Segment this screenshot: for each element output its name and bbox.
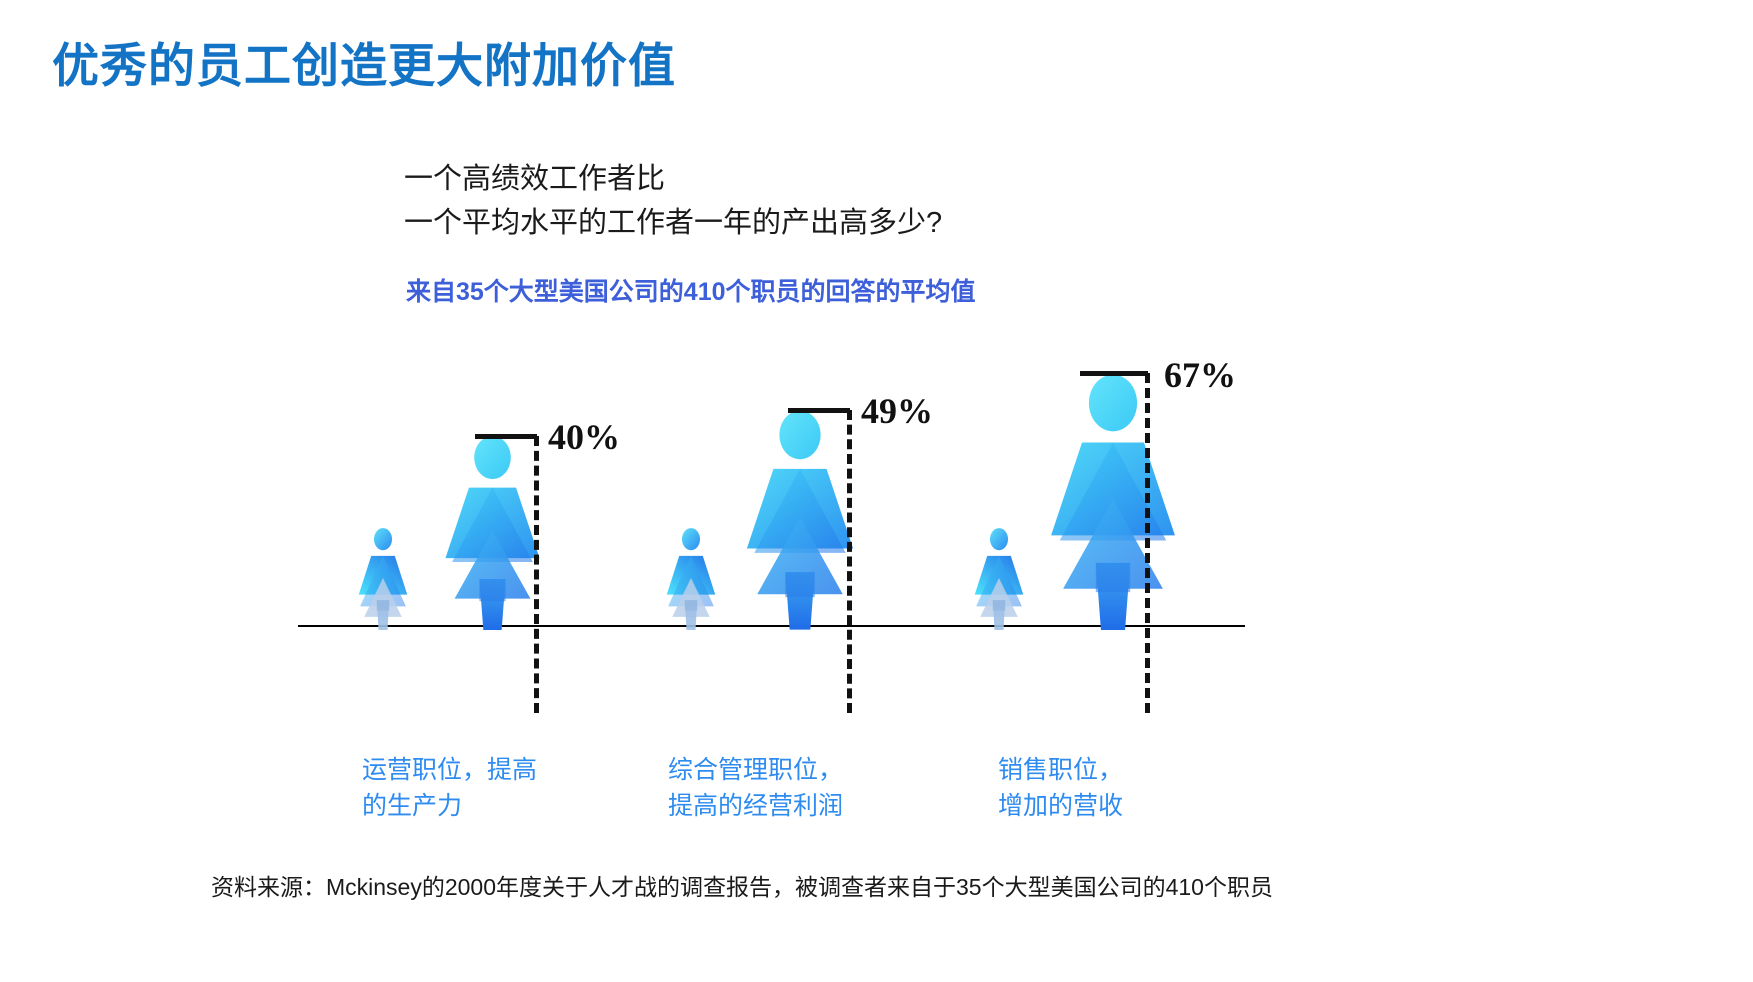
question-line-1: 一个高绩效工作者比	[404, 158, 942, 202]
bracket-dashed-line	[1145, 373, 1150, 713]
figure-average-worker	[663, 526, 719, 630]
bracket-top-line	[475, 434, 537, 439]
question-line-2: 一个平均水平的工作者一年的产出高多少?	[404, 202, 942, 246]
category-label-line-2: 的生产力	[362, 788, 537, 824]
figure-average-worker	[355, 526, 411, 630]
slide-root: 优秀的员工创造更大附加价值 一个高绩效工作者比 一个平均水平的工作者一年的产出高…	[0, 0, 1753, 982]
bracket-dashed-line	[534, 436, 539, 713]
category-label-line-1: 综合管理职位，	[668, 752, 843, 788]
bracket-top-line	[1080, 371, 1148, 376]
category-label-line-2: 提高的经营利润	[668, 788, 843, 824]
category-label-line-1: 运营职位，提高	[362, 752, 537, 788]
category-label-sales: 销售职位， 增加的营收	[998, 752, 1123, 825]
question-block: 一个高绩效工作者比 一个平均水平的工作者一年的产出高多少?	[404, 158, 942, 245]
value-label-sales: 67%	[1164, 354, 1236, 396]
figure-high-performer	[1044, 372, 1182, 630]
bracket-dashed-line	[847, 410, 852, 713]
category-label-line-1: 销售职位，	[998, 752, 1123, 788]
chart-group-general-management: 49%	[608, 300, 928, 740]
page-title: 优秀的员工创造更大附加价值	[52, 38, 676, 94]
chart-group-sales: 67%	[916, 300, 1256, 740]
category-label-line-2: 增加的营收	[998, 788, 1123, 824]
figure-high-performer	[741, 408, 859, 630]
category-label-general-management: 综合管理职位， 提高的经营利润	[668, 752, 843, 825]
bracket-top-line	[788, 408, 850, 413]
category-label-operations: 运营职位，提高 的生产力	[362, 752, 537, 825]
pictogram-chart: 40%	[0, 300, 1753, 740]
figure-high-performer	[440, 434, 545, 630]
figure-average-worker	[971, 526, 1027, 630]
chart-group-operations: 40%	[300, 300, 620, 740]
source-note: 资料来源：Mckinsey的2000年度关于人才战的调查报告，被调查者来自于35…	[211, 868, 1273, 902]
